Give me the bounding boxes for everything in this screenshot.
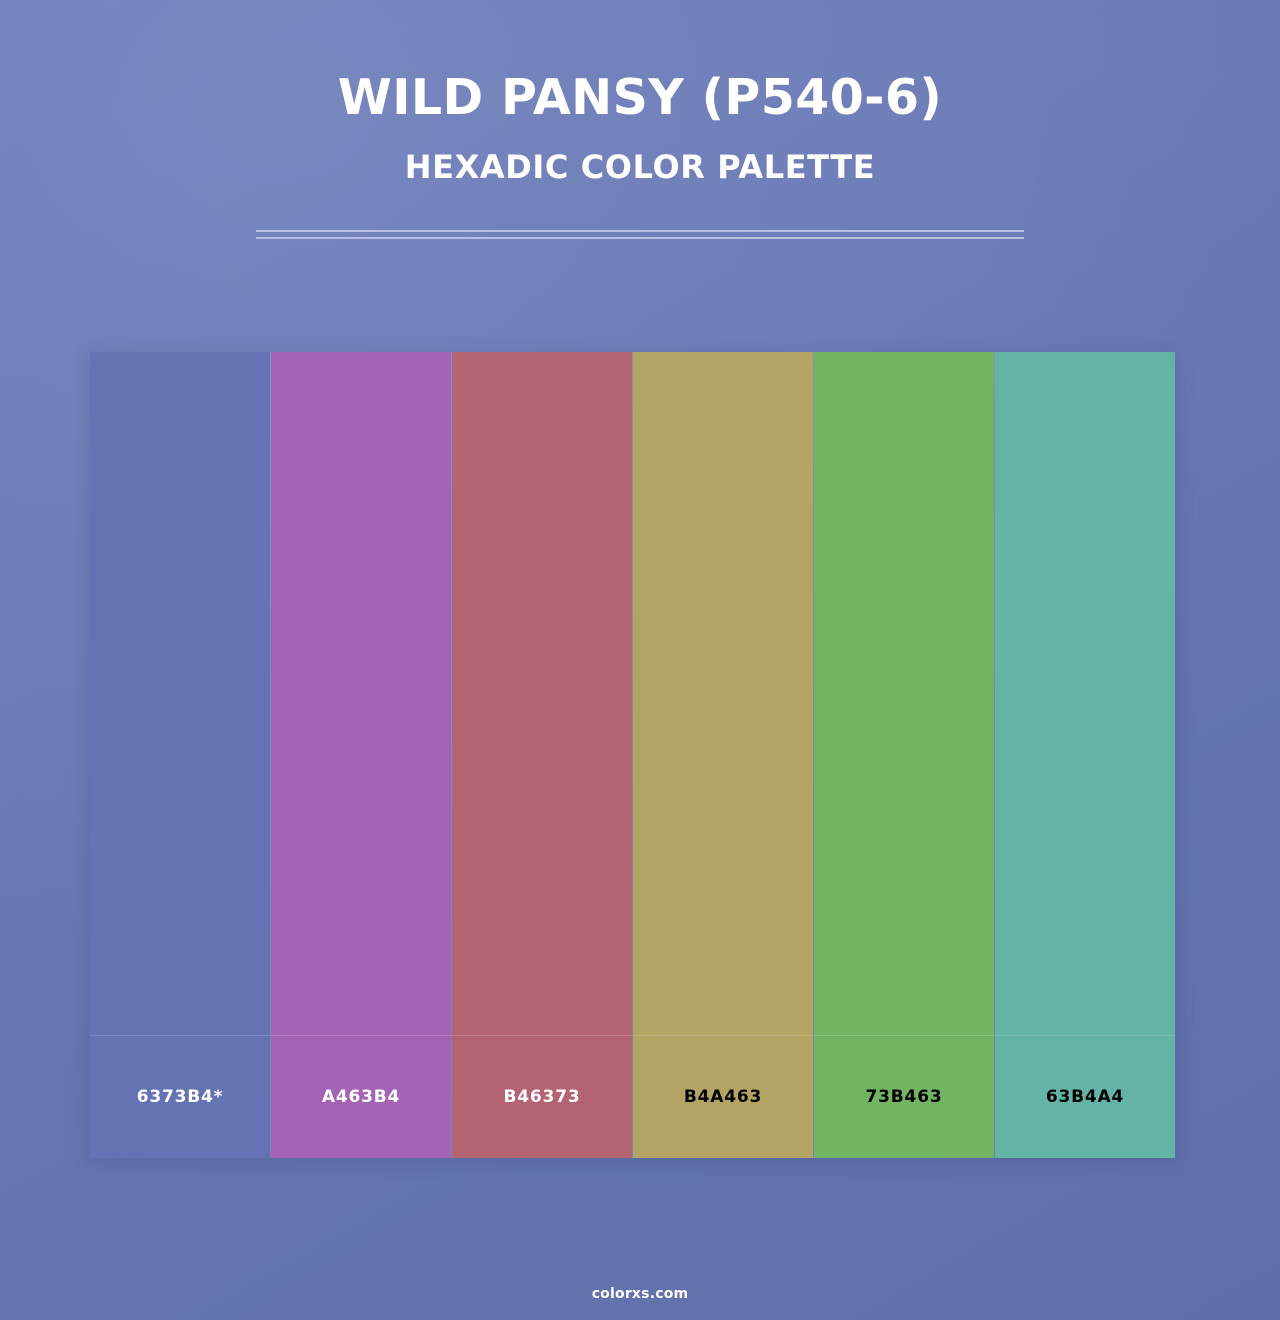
swatch-label-box: 63B4A4 bbox=[995, 1035, 1175, 1158]
swatch-hex-label: 6373B4* bbox=[137, 1087, 224, 1107]
swatch-column[interactable]: B46373 bbox=[452, 352, 633, 1158]
color-palette-page: WILD PANSY (P540-6) HEXADIC COLOR PALETT… bbox=[0, 0, 1280, 1320]
swatch-label-box: B46373 bbox=[452, 1035, 632, 1158]
site-credit: colorxs.com bbox=[592, 1286, 689, 1302]
swatch-label-box: B4A463 bbox=[633, 1035, 813, 1158]
swatch-hex-label: B4A463 bbox=[684, 1087, 762, 1107]
swatch-color-block[interactable] bbox=[633, 352, 813, 1035]
swatch-column[interactable]: 73B463 bbox=[814, 352, 995, 1158]
divider-line-bottom bbox=[256, 237, 1024, 239]
swatch-color-block[interactable] bbox=[452, 352, 632, 1035]
page-footer: colorxs.com bbox=[0, 1283, 1280, 1302]
page-title: WILD PANSY (P540-6) bbox=[0, 0, 1280, 124]
swatch-column[interactable]: 63B4A4 bbox=[995, 352, 1175, 1158]
swatch-color-block[interactable] bbox=[995, 352, 1175, 1035]
swatch-column[interactable]: B4A463 bbox=[633, 352, 814, 1158]
swatch-hex-label: 63B4A4 bbox=[1046, 1087, 1124, 1107]
swatch-hex-label: A463B4 bbox=[322, 1087, 400, 1107]
swatch-hex-label: 73B463 bbox=[866, 1087, 943, 1107]
swatch-color-block[interactable] bbox=[814, 352, 994, 1035]
page-header: WILD PANSY (P540-6) HEXADIC COLOR PALETT… bbox=[0, 0, 1280, 184]
header-divider bbox=[256, 230, 1024, 239]
swatch-column[interactable]: 6373B4* bbox=[90, 352, 271, 1158]
swatch-hex-label: B46373 bbox=[504, 1087, 581, 1107]
swatch-color-block[interactable] bbox=[271, 352, 451, 1035]
swatch-label-box: 73B463 bbox=[814, 1035, 994, 1158]
swatch-column[interactable]: A463B4 bbox=[271, 352, 452, 1158]
page-subtitle: HEXADIC COLOR PALETTE bbox=[0, 124, 1280, 185]
divider-line-top bbox=[256, 230, 1024, 232]
swatch-label-box: 6373B4* bbox=[90, 1035, 270, 1158]
palette-swatch-grid: 6373B4*A463B4B46373B4A46373B46363B4A4 bbox=[90, 352, 1175, 1158]
swatch-color-block[interactable] bbox=[90, 352, 270, 1035]
swatch-label-box: A463B4 bbox=[271, 1035, 451, 1158]
